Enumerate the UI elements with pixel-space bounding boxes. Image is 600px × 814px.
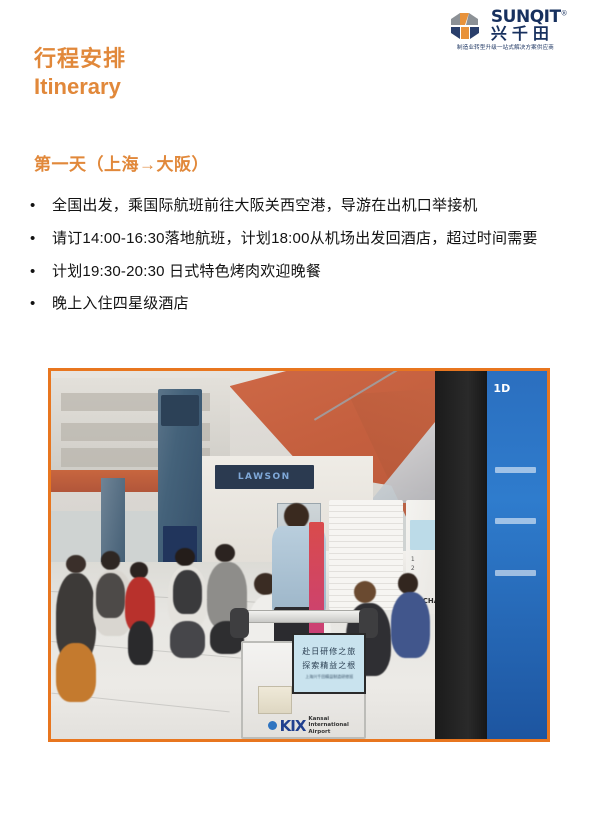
bullet-icon: • xyxy=(30,291,52,317)
logo-wordmark: SUNQIT® 兴千田 xyxy=(491,9,567,43)
list-item: • 请订14:00-16:30落地航班，计划18:00从机场出发回酒店，超过时间… xyxy=(30,226,570,252)
cart-luggage-box xyxy=(258,686,292,714)
kix-dot-icon xyxy=(268,721,277,730)
luggage-cart: KIX Kansai International Airport 赴日研修之旅 … xyxy=(230,599,379,739)
logo-english-text: SUNQIT® xyxy=(491,9,567,26)
list-item: • 全国出发，乘国际航班前往大阪关西空港，导游在出机口举接机 xyxy=(30,193,570,219)
page-title-english: Itinerary xyxy=(34,74,126,100)
person-head xyxy=(175,548,195,566)
person-lower xyxy=(128,621,153,665)
lawson-sign-text: LAWSON xyxy=(238,472,291,482)
screen-row xyxy=(495,467,537,473)
kix-name-line3: Airport xyxy=(308,729,348,735)
itinerary-photo: LAWSON 123 GACHA GACHA 1D xyxy=(48,368,550,742)
list-item-text: 计划19:30-20:30 日式特色烤肉欢迎晚餐 xyxy=(52,259,570,285)
person xyxy=(391,592,431,658)
list-item: • 计划19:30-20:30 日式特色烤肉欢迎晚餐 xyxy=(30,259,570,285)
backpack xyxy=(96,573,126,617)
backpack xyxy=(173,570,203,614)
blue-display-screen: 1D xyxy=(487,371,547,739)
list-item-text: 请订14:00-16:30落地航班，计划18:00从机场出发回酒店，超过时间需要 xyxy=(52,226,570,252)
person-head xyxy=(101,551,121,569)
day-heading: 第一天（上海→大阪） xyxy=(34,150,209,175)
person-lower xyxy=(170,621,205,658)
list-item-text: 晚上入住四星级酒店 xyxy=(52,291,570,317)
logo-tagline: 制造业转型升级一站式解决方案供应商 xyxy=(458,43,555,51)
page-title-chinese: 行程安排 xyxy=(34,46,126,72)
kix-name-line2: International xyxy=(308,722,348,728)
tour-sign-line2: 探索精益之根 xyxy=(302,660,356,671)
screen-row xyxy=(495,518,537,524)
kix-name-text: Kansai International Airport xyxy=(308,716,348,735)
list-item: • 晚上入住四星级酒店 xyxy=(30,291,570,317)
registered-trademark-icon: ® xyxy=(561,9,568,17)
sunqit-hexagon-mark-icon xyxy=(445,11,487,41)
person-lower xyxy=(56,643,96,702)
screen-row xyxy=(495,570,537,576)
page-title: 行程安排 Itinerary xyxy=(34,46,126,100)
cart-handle xyxy=(235,610,372,623)
logo-top-row: SUNQIT® 兴千田 xyxy=(445,12,567,40)
cart-grip-left xyxy=(230,608,249,639)
brand-logo: SUNQIT® 兴千田 制造业转型升级一站式解决方案供应商 xyxy=(426,12,586,68)
logo-chinese-text: 兴千田 xyxy=(491,27,554,43)
tour-sign-line1: 赴日研修之旅 xyxy=(302,646,356,657)
gate-number-text: 1D xyxy=(493,382,510,395)
person-head xyxy=(215,544,235,562)
lawson-store-sign: LAWSON xyxy=(215,465,314,489)
tour-sign-subtext: 上海兴千田精益制造研修班 xyxy=(305,674,353,680)
bullet-icon: • xyxy=(30,193,52,219)
photo-content: LAWSON 123 GACHA GACHA 1D xyxy=(51,371,547,739)
bullet-icon: • xyxy=(30,226,52,252)
person-head xyxy=(398,573,418,593)
bullet-icon: • xyxy=(30,259,52,285)
kix-code-text: KIX xyxy=(280,717,306,735)
list-item-text: 全国出发，乘国际航班前往大阪关西空港，导游在出机口举接机 xyxy=(52,193,570,219)
itinerary-list: • 全国出发，乘国际航班前往大阪关西空港，导游在出机口举接机 • 请订14:00… xyxy=(30,193,570,324)
kix-airport-logo: KIX Kansai International Airport xyxy=(268,716,349,735)
person-head xyxy=(66,555,86,573)
tour-welcome-sign: 赴日研修之旅 探索精益之根 上海兴千田精益制造研修班 xyxy=(292,633,366,695)
information-kiosk xyxy=(435,371,490,739)
